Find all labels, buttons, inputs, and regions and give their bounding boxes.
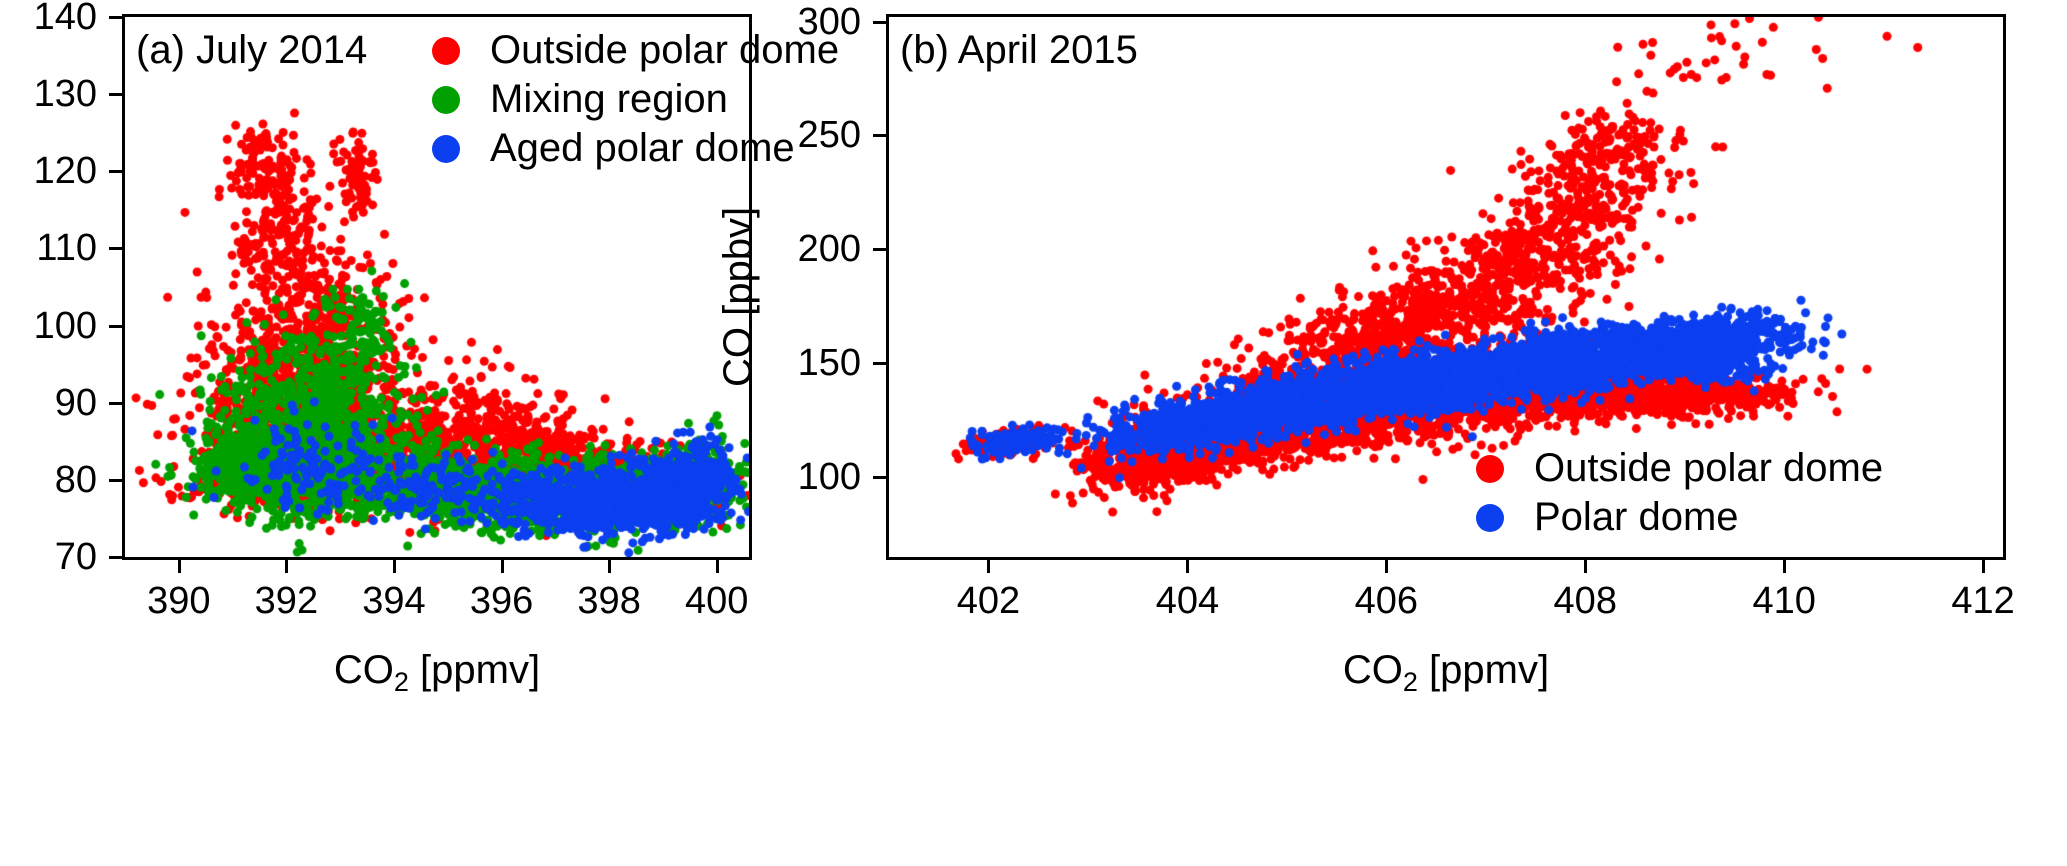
y-tick-mark — [109, 556, 122, 559]
y-tick-label: 140 — [0, 0, 97, 36]
y-tick-label: 200 — [751, 230, 861, 268]
panel-july-2014: (a) July 2014 Outside polar dome Mixing … — [0, 0, 1035, 866]
x-tick-mark — [1783, 560, 1786, 573]
x-axis-title-subscript: 2 — [1403, 667, 1418, 697]
legend-marker-red — [1476, 455, 1504, 483]
x-tick-label: 408 — [1554, 582, 1617, 620]
y-tick-label: 120 — [0, 152, 97, 190]
legend-label: Aged polar dome — [490, 126, 795, 171]
y-tick-label: 150 — [751, 344, 861, 382]
panel-april-2015: (b) April 2015 Outside polar dome Polar … — [1035, 0, 2067, 866]
legend-marker-green — [432, 86, 460, 114]
x-tick-label: 396 — [470, 582, 533, 620]
panel-tag-b: (b) April 2015 — [900, 28, 1138, 73]
y-tick-label: 70 — [0, 538, 97, 576]
y-tick-mark — [873, 134, 886, 137]
x-tick-label: 410 — [1752, 582, 1815, 620]
legend-label: Mixing region — [490, 77, 728, 122]
x-tick-label: 406 — [1355, 582, 1418, 620]
x-tick-label: 398 — [577, 582, 640, 620]
x-tick-mark — [1584, 560, 1587, 573]
y-tick-label: 250 — [751, 116, 861, 154]
x-axis-title-suffix: [ppmv] — [409, 648, 540, 692]
y-tick-mark — [109, 93, 122, 96]
y-tick-label: 100 — [751, 458, 861, 496]
y-tick-mark — [109, 325, 122, 328]
y-tick-mark — [873, 248, 886, 251]
x-tick-mark — [716, 560, 719, 573]
x-tick-label: 392 — [255, 582, 318, 620]
y-tick-label: 130 — [0, 75, 97, 113]
panel-tag-a: (a) July 2014 — [136, 28, 367, 73]
x-tick-label: 394 — [362, 582, 425, 620]
legend-marker-blue — [1476, 504, 1504, 532]
legend-item-polar-dome[interactable]: Polar dome — [1476, 493, 1883, 542]
x-axis-title-prefix: CO — [334, 648, 394, 692]
x-tick-mark — [1385, 560, 1388, 573]
legend-label: Polar dome — [1534, 495, 1739, 540]
y-tick-mark — [109, 402, 122, 405]
y-tick-label: 90 — [0, 384, 97, 422]
legend-marker-red — [432, 37, 460, 65]
x-tick-mark — [393, 560, 396, 573]
y-tick-mark — [873, 362, 886, 365]
x-tick-mark — [178, 560, 181, 573]
legend-marker-blue — [432, 135, 460, 163]
y-tick-mark — [873, 476, 886, 479]
y-tick-mark — [109, 170, 122, 173]
x-tick-label: 390 — [147, 582, 210, 620]
y-tick-mark — [873, 21, 886, 24]
x-axis-title-suffix: [ppmv] — [1418, 648, 1549, 692]
y-tick-mark — [109, 16, 122, 19]
y-tick-label: 110 — [0, 229, 97, 267]
x-tick-mark — [285, 560, 288, 573]
x-tick-mark — [608, 560, 611, 573]
legend-b: Outside polar dome Polar dome — [1476, 444, 1883, 542]
figure-root: (a) July 2014 Outside polar dome Mixing … — [0, 0, 2067, 866]
y-tick-label: 300 — [751, 3, 861, 41]
x-tick-mark — [1186, 560, 1189, 573]
x-tick-mark — [987, 560, 990, 573]
x-axis-title-prefix: CO — [1343, 648, 1403, 692]
x-tick-mark — [1982, 560, 1985, 573]
x-axis-title-subscript: 2 — [394, 667, 409, 697]
x-tick-label: 402 — [957, 582, 1020, 620]
legend-label: Outside polar dome — [1534, 446, 1883, 491]
legend-item-outside-polar-dome[interactable]: Outside polar dome — [1476, 444, 1883, 493]
x-tick-mark — [501, 560, 504, 573]
y-tick-mark — [109, 479, 122, 482]
y-tick-mark — [109, 247, 122, 250]
x-tick-label: 412 — [1951, 582, 2014, 620]
x-tick-label: 404 — [1156, 582, 1219, 620]
y-tick-label: 100 — [0, 307, 97, 345]
x-axis-title-b: CO2 [ppmv] — [1343, 648, 1549, 698]
y-tick-label: 80 — [0, 461, 97, 499]
x-axis-title-a: CO2 [ppmv] — [334, 648, 540, 698]
x-tick-label: 400 — [685, 582, 748, 620]
